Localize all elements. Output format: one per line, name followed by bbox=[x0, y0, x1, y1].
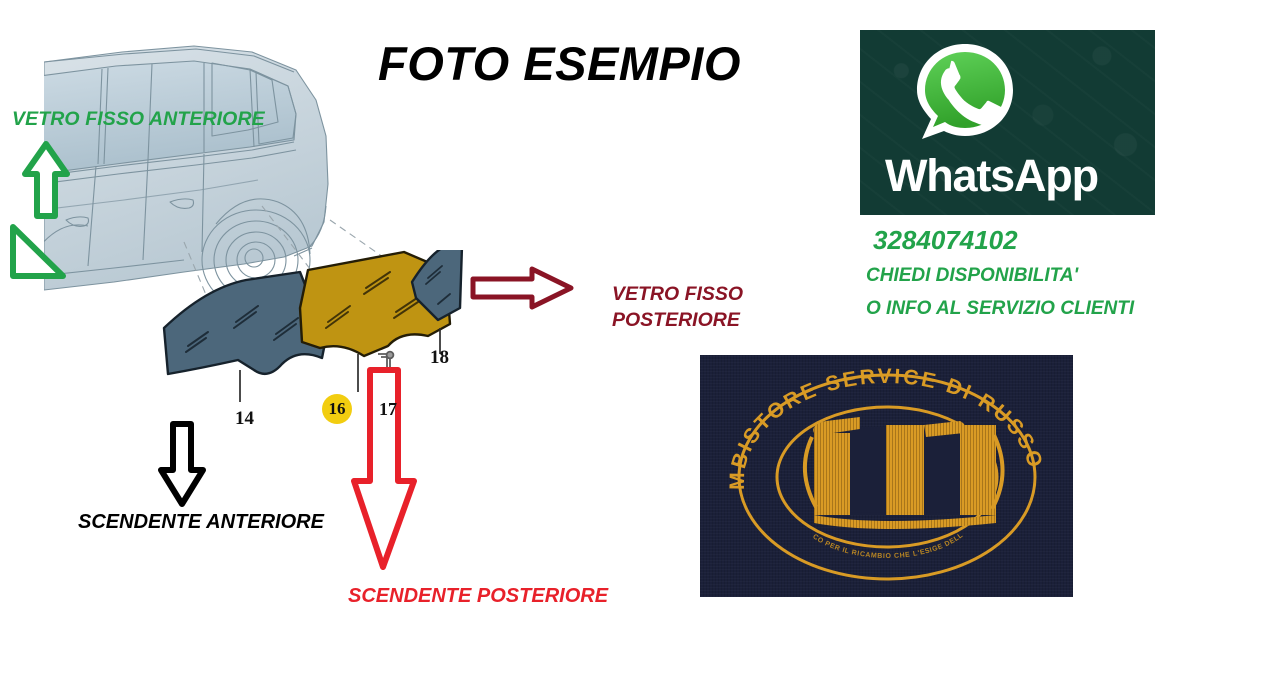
shop-logo: MRICAMBISTORE SERVICE DI RUSSO MARCO AL … bbox=[700, 355, 1073, 597]
shop-logo-artwork: MRICAMBISTORE SERVICE DI RUSSO MARCO AL … bbox=[700, 355, 1073, 597]
exploded-glass-parts bbox=[150, 250, 480, 415]
arrow-maroon-right-icon bbox=[470, 266, 574, 315]
label-vetro-fisso-anteriore: VETRO FISSO ANTERIORE bbox=[12, 109, 265, 131]
contact-line-availability: CHIEDI DISPONIBILITA' bbox=[866, 265, 1078, 287]
label-vetro-fisso-posteriore: VETRO FISSO POSTERIORE bbox=[612, 282, 743, 333]
label-scendente-anteriore: SCENDENTE ANTERIORE bbox=[78, 511, 324, 533]
arrow-red-down-icon bbox=[348, 366, 418, 576]
logo-monogram-m bbox=[805, 417, 1003, 529]
phone-number[interactable]: 3284074102 bbox=[873, 225, 1018, 256]
label-scendente-posteriore: SCENDENTE POSTERIORE bbox=[348, 585, 608, 607]
whatsapp-phone-icon bbox=[912, 40, 1018, 152]
whatsapp-banner[interactable]: WhatsApp bbox=[860, 30, 1155, 215]
part-number-18: 18 bbox=[430, 347, 449, 369]
arrow-green-up-icon bbox=[22, 140, 70, 225]
whatsapp-wordmark: WhatsApp bbox=[885, 150, 1098, 202]
part-number-14: 14 bbox=[235, 408, 254, 430]
page-title: FOTO ESEMPIO bbox=[378, 36, 741, 91]
part-number-17: 17 bbox=[379, 399, 397, 420]
arrow-black-down-icon bbox=[157, 420, 207, 513]
green-triangle-icon bbox=[8, 222, 68, 287]
contact-line-customer-service: O INFO AL SERVIZIO CLIENTI bbox=[866, 298, 1134, 320]
